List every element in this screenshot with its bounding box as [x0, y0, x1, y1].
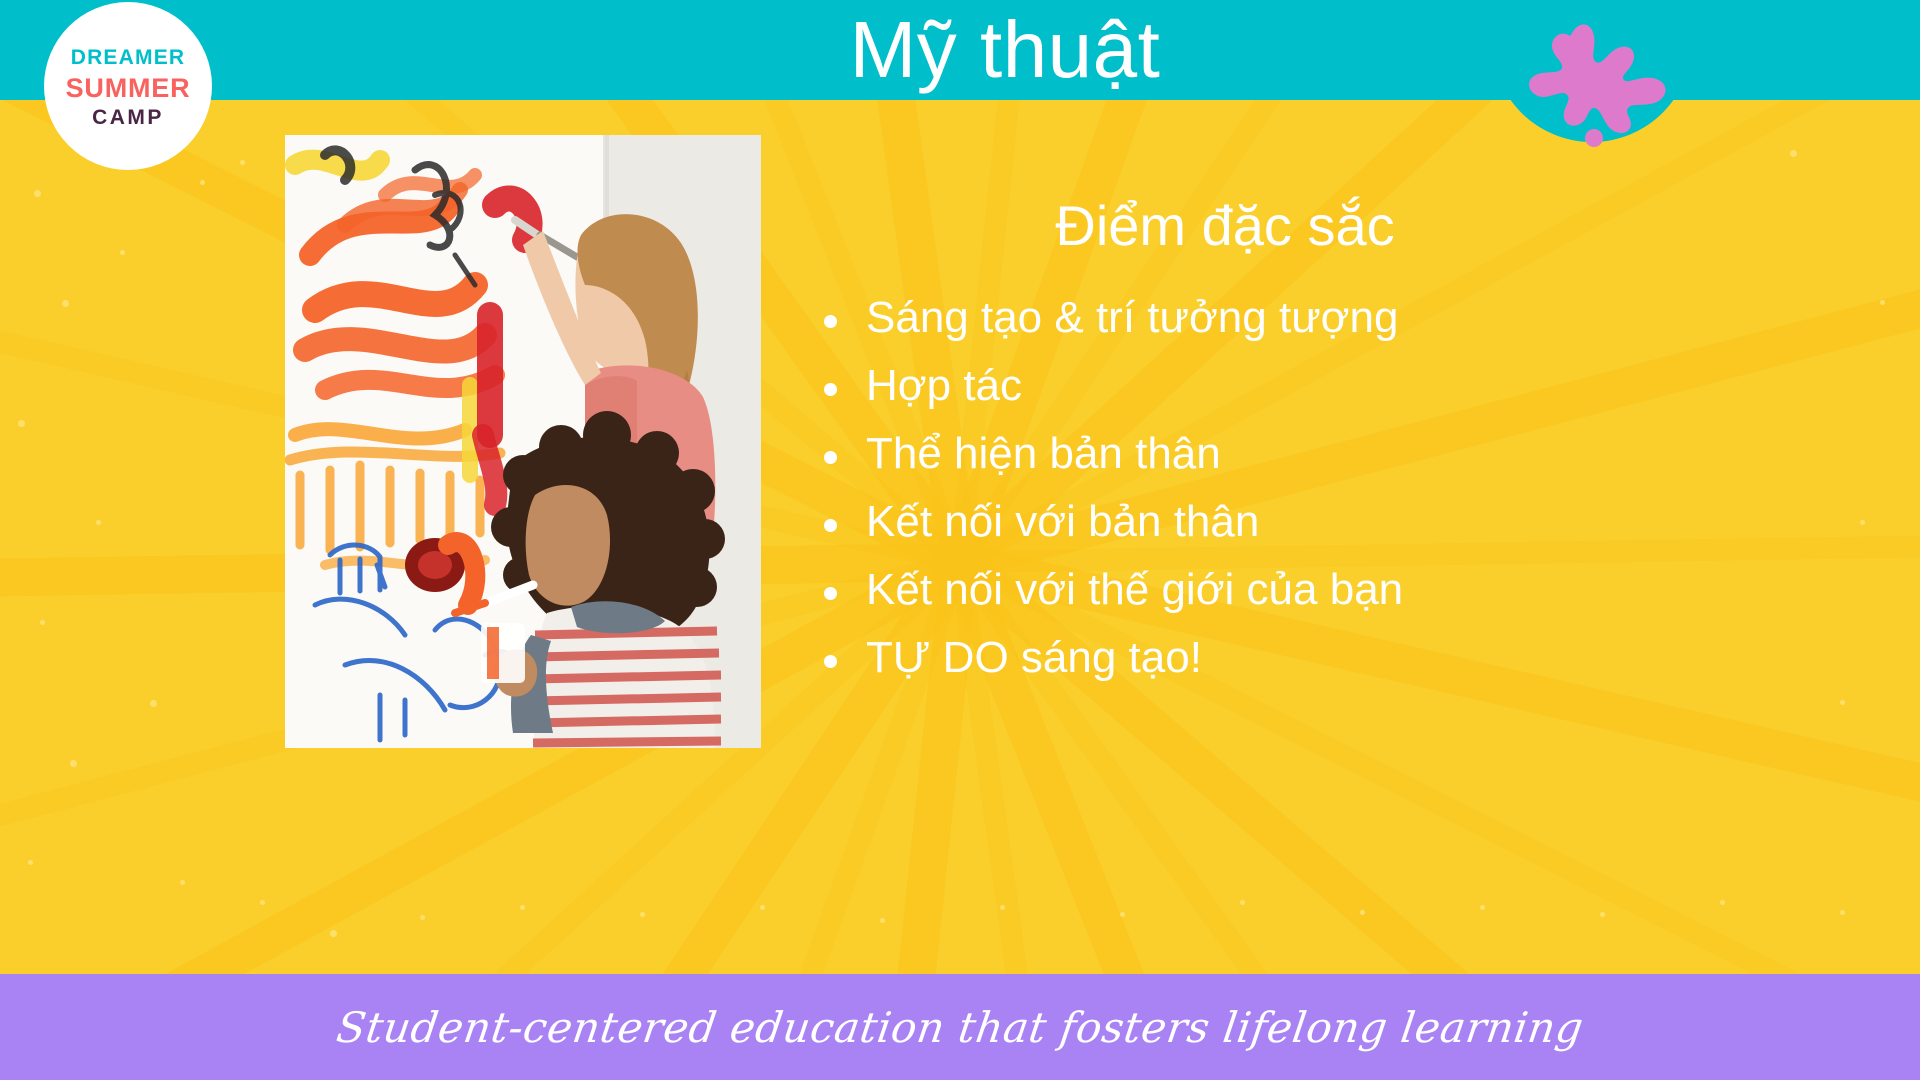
background-speckle — [640, 912, 645, 917]
background-speckle — [1480, 905, 1485, 910]
lesson-photo — [285, 135, 761, 748]
background-speckle — [1840, 910, 1845, 915]
background-speckle — [62, 300, 69, 307]
background-speckle — [880, 918, 885, 923]
section-subheading: Điểm đặc sắc — [790, 190, 1870, 262]
background-speckle — [18, 420, 25, 427]
background-speckle — [34, 190, 41, 197]
background-speckle — [200, 180, 205, 185]
logo-line-summer: SUMMER — [66, 72, 191, 104]
highlight-item: Kết nối với thế giới của bạn — [810, 556, 1870, 624]
background-speckle — [520, 905, 525, 910]
highlight-item: Thể hiện bản thân — [810, 420, 1870, 488]
highlight-item: Kết nối với bản thân — [810, 488, 1870, 556]
logo-line-dreamer: DREAMER — [71, 45, 186, 71]
background-speckle — [1360, 910, 1365, 915]
background-speckle — [330, 930, 337, 937]
background-speckle — [40, 620, 45, 625]
page-title: Mỹ thuật — [45, 2, 1920, 98]
background-speckle — [1240, 900, 1245, 905]
content-column: Điểm đặc sắc Sáng tạo & trí tưởng tượngH… — [790, 190, 1870, 692]
footer-tagline: Student-centered education that fosters … — [333, 1003, 1586, 1052]
background-speckle — [1720, 900, 1725, 905]
logo-line-camp: CAMP — [92, 105, 164, 131]
background-speckle — [260, 900, 265, 905]
footer-banner: Student-centered education that fosters … — [0, 974, 1920, 1080]
background-speckle — [1880, 300, 1885, 305]
highlight-item: Hợp tác — [810, 352, 1870, 420]
background-speckle — [1840, 700, 1845, 705]
background-speckle — [240, 160, 245, 165]
brand-logo[interactable]: DREAMER SUMMER CAMP — [44, 2, 212, 170]
background-speckle — [150, 700, 157, 707]
background-speckle — [70, 760, 77, 767]
background-speckle — [1600, 912, 1605, 917]
slide-canvas: Mỹ thuật DREAMER SUMMER CAMP Điểm đặc sắ… — [0, 0, 1920, 1080]
highlights-list: Sáng tạo & trí tưởng tượngHợp tácThể hiệ… — [790, 284, 1870, 692]
background-speckle — [96, 520, 101, 525]
background-speckle — [1000, 905, 1005, 910]
highlight-item: TỰ DO sáng tạo! — [810, 624, 1870, 692]
background-speckle — [760, 905, 765, 910]
background-speckle — [420, 915, 425, 920]
highlight-item: Sáng tạo & trí tưởng tượng — [810, 284, 1870, 352]
background-speckle — [1790, 150, 1797, 157]
background-speckle — [120, 250, 125, 255]
background-speckle — [180, 880, 185, 885]
background-speckle — [28, 860, 33, 865]
background-speckle — [1120, 912, 1125, 917]
